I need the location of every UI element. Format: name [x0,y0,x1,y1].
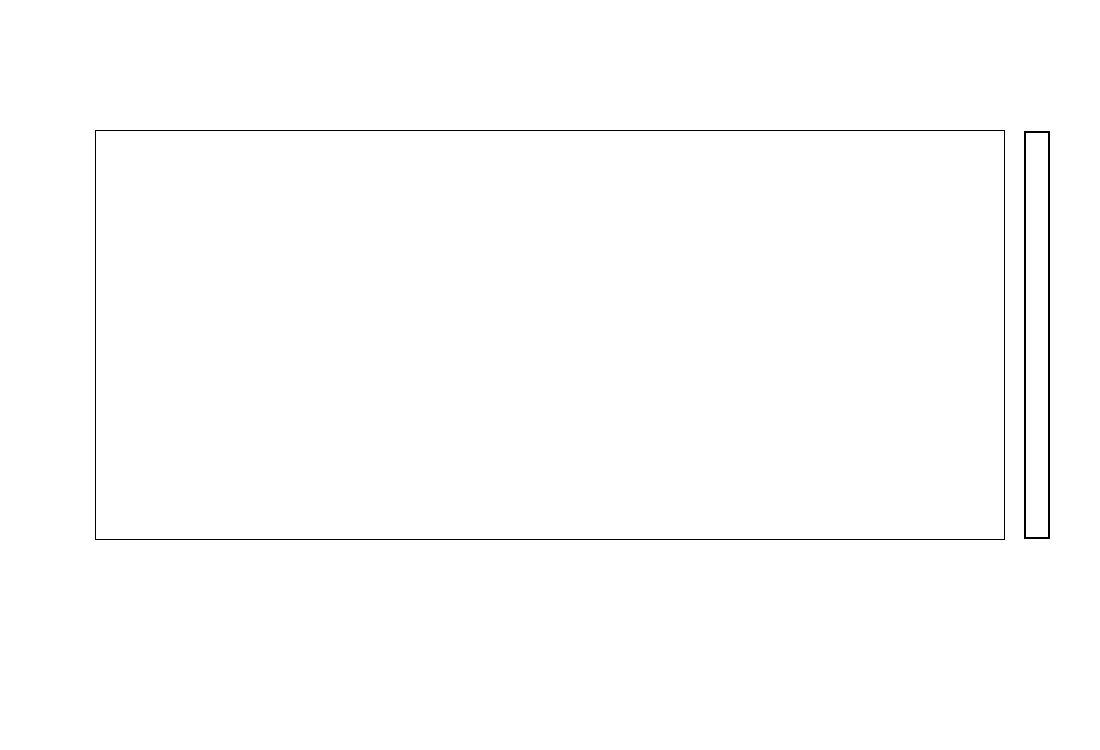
screenshot-root [0,0,1100,750]
heatmap-canvas [96,131,1004,539]
colorbar-canvas [1026,133,1048,537]
colorbar [1024,131,1050,539]
heatmap-plot-area [95,130,1005,540]
